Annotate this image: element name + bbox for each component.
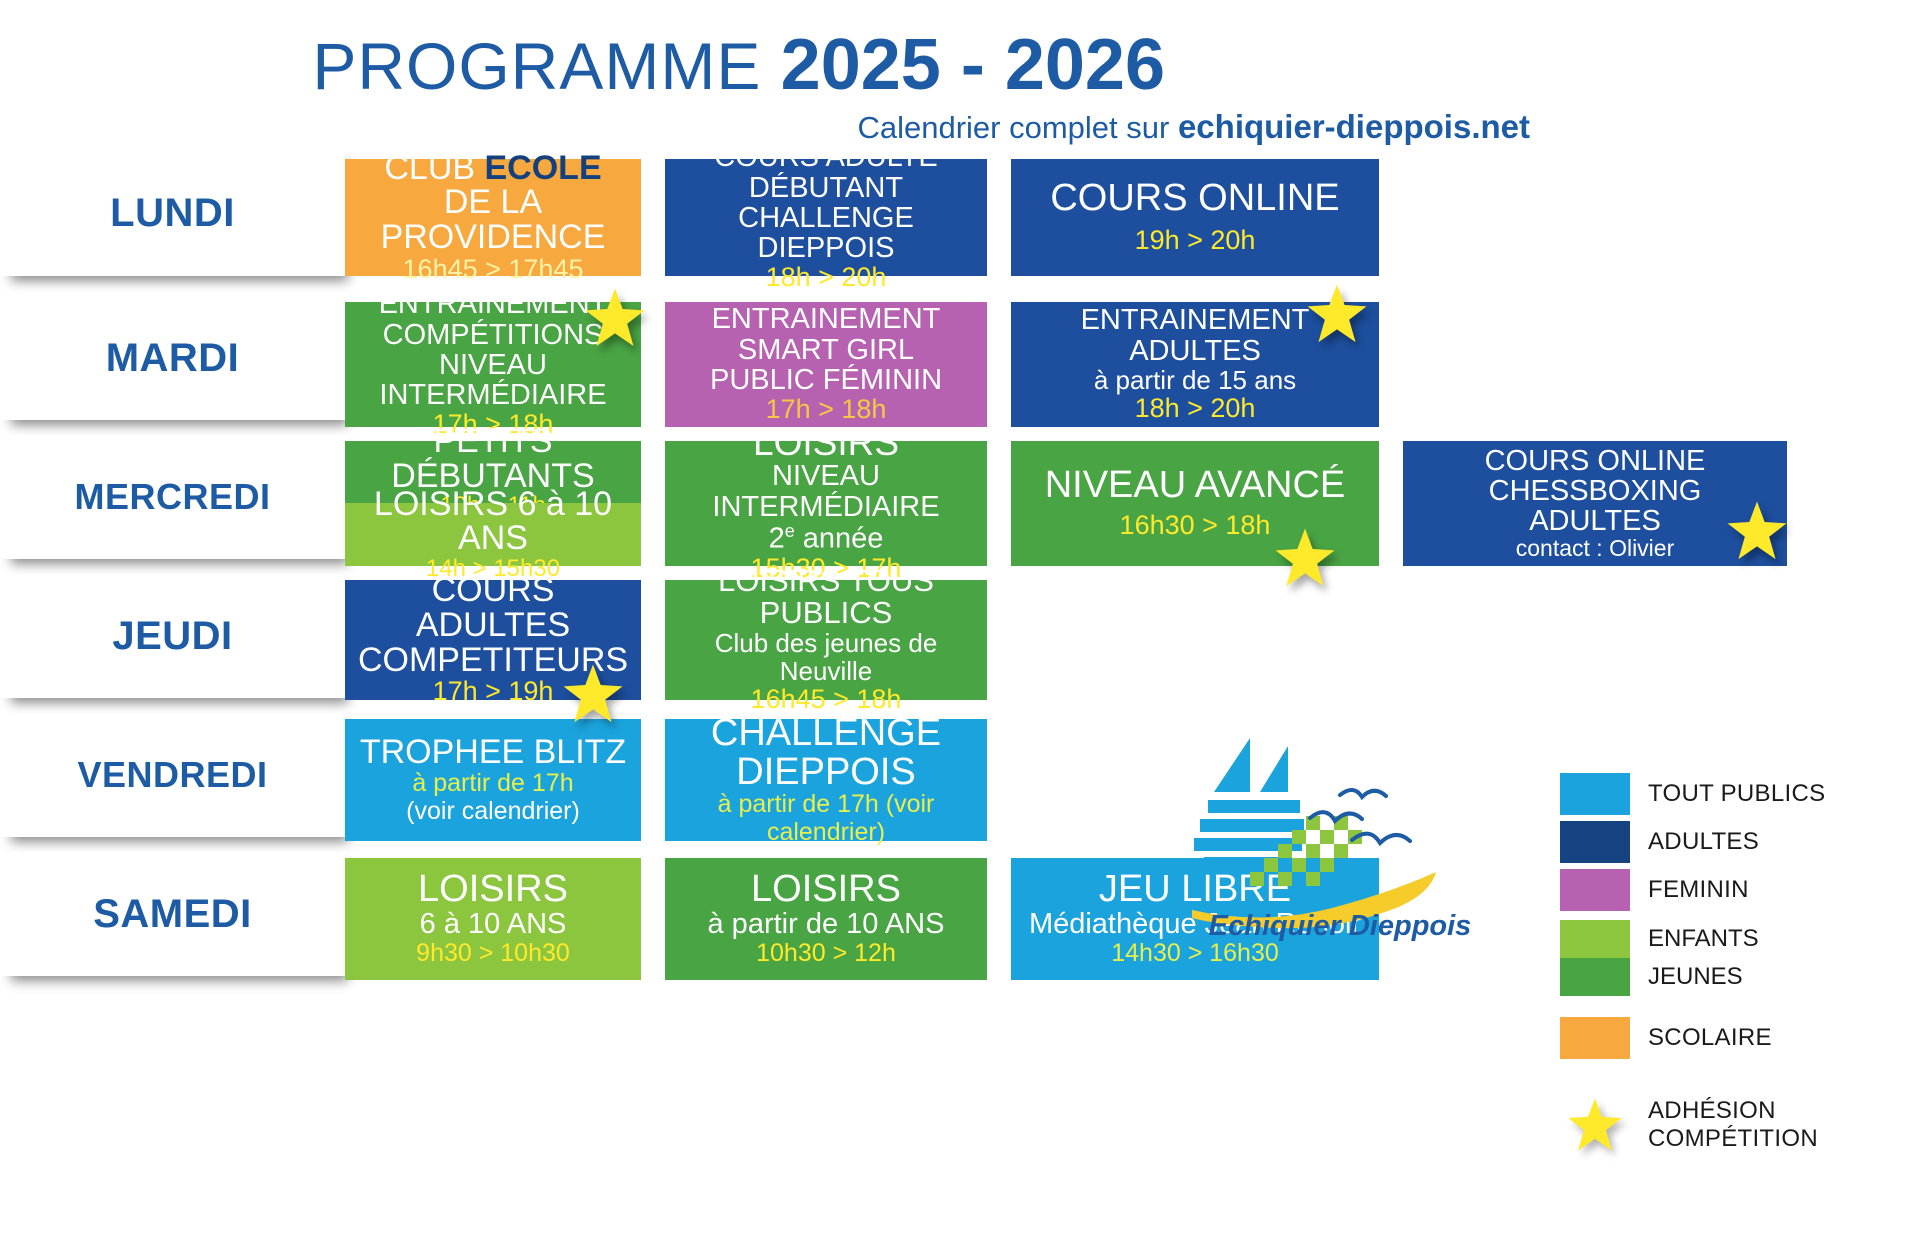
cell-subtitle: SMART GIRL (673, 335, 979, 365)
legend-swatch (1560, 1017, 1630, 1059)
cell-time: 9h30 > 10h30 (353, 940, 633, 968)
cell-contact: contact : Olivier (1411, 536, 1779, 561)
cell-title: NIVEAU AVANCÉ (1019, 466, 1371, 505)
legend-label: ADULTES (1630, 828, 1759, 856)
cell-detail: à partir de 15 ans (1019, 366, 1371, 394)
competition-star-icon (583, 286, 647, 350)
legend-label: SCOLAIRE (1630, 1024, 1772, 1052)
day-label-mardi: MARDI (0, 296, 345, 420)
cell-time: à partir de 17h (voir calendrier) (673, 791, 979, 846)
legend-swatch-jeunes (1560, 958, 1630, 996)
schedule-row-lundi: LUNDI CLUB ECOLE DE LA PROVIDENCE 16h45 … (0, 150, 1920, 296)
day-label-vendredi: VENDREDI (0, 713, 345, 837)
cell-title: ENTRAINEMENT (673, 304, 979, 334)
title-programme: PROGRAMME (312, 29, 780, 103)
cell-title: LOISIRS (353, 870, 633, 909)
legend-star-box (1560, 1096, 1630, 1154)
day-name: VENDREDI (77, 754, 267, 796)
day-name: SAMEDI (93, 892, 252, 937)
cell-time: 19h > 20h (1019, 226, 1371, 256)
legend-swatch (1560, 869, 1630, 911)
cell-subtitle: 6 à 10 ANS (353, 909, 633, 940)
cell-detail: ADULTES (1411, 506, 1779, 536)
cell-title-part2: ECOLE (485, 149, 602, 187)
cell-detail: PUBLIC FÉMININ (673, 365, 979, 395)
day-label-mercredi: MERCREDI (0, 435, 345, 559)
subtitle-website: echiquier-dieppois.net (1178, 108, 1530, 145)
cell-title: LOISIRS 6 à 10 ANS (345, 487, 641, 556)
cell-lundi-cours-adulte-debutant[interactable]: COURS ADULTE DÉBUTANT CHALLENGE DIEPPOIS… (665, 159, 987, 276)
cell-time: 18h > 20h (1019, 394, 1371, 424)
legend-item-adhesion: ADHÉSION COMPÉTITION (1560, 1096, 1910, 1154)
cell-mercredi-loisirs-6-10[interactable]: LOISIRS 6 à 10 ANS 14h > 15h30 (345, 503, 641, 566)
cell-time: à partir de 17h (353, 770, 633, 798)
cell-samedi-loisirs-6-10[interactable]: LOISIRS 6 à 10 ANS 9h30 > 10h30 (345, 858, 641, 980)
cell-detail: NIVEAU INTERMÉDIAIRE (353, 350, 633, 410)
cell-title: TROPHEE BLITZ (353, 735, 633, 770)
title-years: 2025 - 2026 (781, 25, 1165, 105)
poster-header: PROGRAMME 2025 - 2026 Calendrier complet… (0, 0, 1920, 150)
cell-title: COURS ADULTE DÉBUTANT (673, 142, 979, 202)
cell-mercredi-chessboxing[interactable]: COURS ONLINE CHESSBOXING ADULTES contact… (1403, 441, 1787, 566)
day-name: MARDI (106, 336, 240, 381)
legend: TOUT PUBLICS ADULTES FEMININ ENFANTS JEU… (1560, 770, 1910, 1154)
legend-swatch (1560, 821, 1630, 863)
cell-subtitle: Club des jeunes de Neuville (673, 629, 979, 685)
day-label-jeudi: JEUDI (0, 574, 345, 698)
legend-label-jeunes: JEUNES (1648, 958, 1759, 996)
cell-title: COURS ADULTES (353, 573, 633, 642)
cell-vendredi-challenge-dieppois[interactable]: CHALLENGE DIEPPOIS à partir de 17h (voir… (665, 719, 987, 841)
legend-label-group: ENFANTS JEUNES (1630, 920, 1759, 996)
cell-detail: 2e année (673, 522, 979, 554)
cell-time: 10h30 > 12h (673, 940, 979, 968)
cell-mercredi-loisirs-intermediaire[interactable]: LOISIRS NIVEAU INTERMÉDIAIRE 2e année 15… (665, 441, 987, 566)
cell-time: 18h > 20h (673, 263, 979, 293)
day-label-samedi: SAMEDI (0, 852, 345, 976)
cell-note: (voir calendrier) (353, 798, 633, 825)
cell-jeudi-cours-adultes-competiteurs[interactable]: COURS ADULTES COMPETITEURS 17h > 19h (345, 580, 641, 700)
schedule-row-mercredi: MERCREDI PETITS DÉBUTANTS 10h > 11h LOIS… (0, 435, 1920, 574)
cell-time: 14h30 > 16h30 (1019, 940, 1371, 968)
legend-swatch (1560, 773, 1630, 815)
cell-title: PETITS DÉBUTANTS (345, 424, 641, 493)
legend-item-enfants-jeunes: ENFANTS JEUNES (1560, 920, 1910, 996)
club-logo (1190, 720, 1490, 940)
cell-subtitle: à partir de 10 ANS (673, 909, 979, 940)
cell-title: COURS ONLINE (1411, 446, 1779, 476)
cell-samedi-loisirs-10-plus[interactable]: LOISIRS à partir de 10 ANS 10h30 > 12h (665, 858, 987, 980)
legend-swatch-group (1560, 920, 1630, 996)
competition-star-icon (1566, 1096, 1624, 1154)
cell-lundi-cours-online[interactable]: COURS ONLINE 19h > 20h (1011, 159, 1379, 276)
cell-subtitle: CHESSBOXING (1411, 476, 1779, 506)
cell-subtitle: DIEPPOIS (673, 753, 979, 792)
competition-star-icon (561, 662, 625, 726)
legend-label: TOUT PUBLICS (1630, 780, 1825, 808)
cell-jeudi-loisirs-tous-publics[interactable]: LOISIRS TOUS PUBLICS Club des jeunes de … (665, 580, 987, 700)
cell-title: LOISIRS (673, 424, 979, 462)
cell-subtitle: DE LA PROVIDENCE (353, 185, 633, 254)
schedule-row-mardi: MARDI ENTRAINEMENT COMPÉTITIONS NIVEAU I… (0, 296, 1920, 435)
cell-vendredi-trophee-blitz[interactable]: TROPHEE BLITZ à partir de 17h (voir cale… (345, 719, 641, 841)
day-label-lundi: LUNDI (0, 150, 345, 276)
cell-title: COURS ONLINE (1019, 179, 1371, 218)
cell-mercredi-niveau-avance[interactable]: NIVEAU AVANCÉ 16h30 > 18h (1011, 441, 1379, 566)
logo-caption: Echiquier Dieppois (1190, 910, 1490, 943)
echiquier-dieppois-logo-icon (1190, 720, 1490, 940)
competition-star-icon (1273, 526, 1337, 590)
cell-subtitle: NIVEAU INTERMÉDIAIRE (673, 461, 979, 521)
cell-title: CLUB ECOLE (353, 151, 633, 186)
cell-mardi-entrainement-adultes[interactable]: ENTRAINEMENT ADULTES à partir de 15 ans … (1011, 302, 1379, 427)
legend-label: ADHÉSION COMPÉTITION (1630, 1097, 1910, 1153)
cell-title: LOISIRS TOUS PUBLICS (673, 565, 979, 629)
legend-swatch-enfants (1560, 920, 1630, 958)
cell-time: 16h45 > 17h45 (353, 255, 633, 285)
day-name: JEUDI (112, 614, 232, 659)
legend-item-tout-publics: TOUT PUBLICS (1560, 770, 1910, 818)
cell-lundi-club-ecole[interactable]: CLUB ECOLE DE LA PROVIDENCE 16h45 > 17h4… (345, 159, 641, 276)
legend-item-scolaire: SCOLAIRE (1560, 1014, 1910, 1062)
competition-star-icon (1725, 499, 1789, 563)
cell-subtitle: CHALLENGE DIEPPOIS (673, 203, 979, 263)
cell-title: CHALLENGE (673, 714, 979, 753)
cell-mardi-entrainement-competitions[interactable]: ENTRAINEMENT COMPÉTITIONS NIVEAU INTERMÉ… (345, 302, 641, 427)
day-name: MERCREDI (74, 476, 270, 518)
cell-mercredi-stack: PETITS DÉBUTANTS 10h > 11h LOISIRS 6 à 1… (345, 441, 641, 566)
legend-label-enfants: ENFANTS (1648, 920, 1759, 958)
page-title: PROGRAMME 2025 - 2026 (0, 24, 1165, 106)
cell-title-part1: CLUB (384, 149, 484, 187)
cell-mardi-smart-girl[interactable]: ENTRAINEMENT SMART GIRL PUBLIC FÉMININ 1… (665, 302, 987, 427)
legend-item-feminin: FEMININ (1560, 866, 1910, 914)
cell-title: LOISIRS (673, 870, 979, 909)
legend-item-adultes: ADULTES (1560, 818, 1910, 866)
day-name: LUNDI (110, 191, 235, 236)
competition-star-icon (1305, 282, 1369, 346)
schedule-row-jeudi: JEUDI COURS ADULTES COMPETITEURS 17h > 1… (0, 574, 1920, 713)
legend-label: FEMININ (1630, 876, 1749, 904)
